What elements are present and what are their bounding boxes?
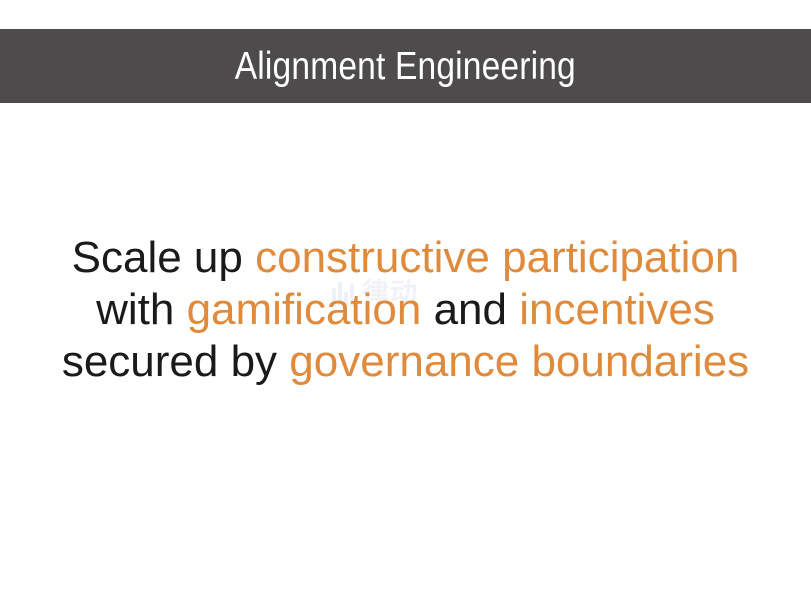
- slide-body-text: Scale up constructive participation with…: [0, 232, 811, 388]
- body-line-1-segment-1: Scale up: [72, 233, 255, 282]
- page-title: Alignment Engineering: [235, 47, 576, 86]
- body-line-1: Scale up constructive participation: [0, 232, 811, 284]
- body-line-3: secured by governance boundaries: [0, 336, 811, 388]
- body-line-2-segment-3: and: [421, 285, 519, 334]
- slide-title-bar: Alignment Engineering: [0, 29, 811, 103]
- body-line-2-segment-1: with: [96, 285, 186, 334]
- body-line-3-segment-2: governance boundaries: [289, 337, 749, 386]
- body-line-2-segment-2: gamification: [187, 285, 422, 334]
- body-line-1-segment-2: constructive participation: [255, 233, 739, 282]
- body-line-2-segment-4: incentives: [519, 285, 715, 334]
- body-line-3-segment-1: secured by: [62, 337, 289, 386]
- slide-canvas: Alignment Engineering 律动 Scale up constr…: [0, 0, 811, 609]
- body-line-2: with gamification and incentives: [0, 284, 811, 336]
